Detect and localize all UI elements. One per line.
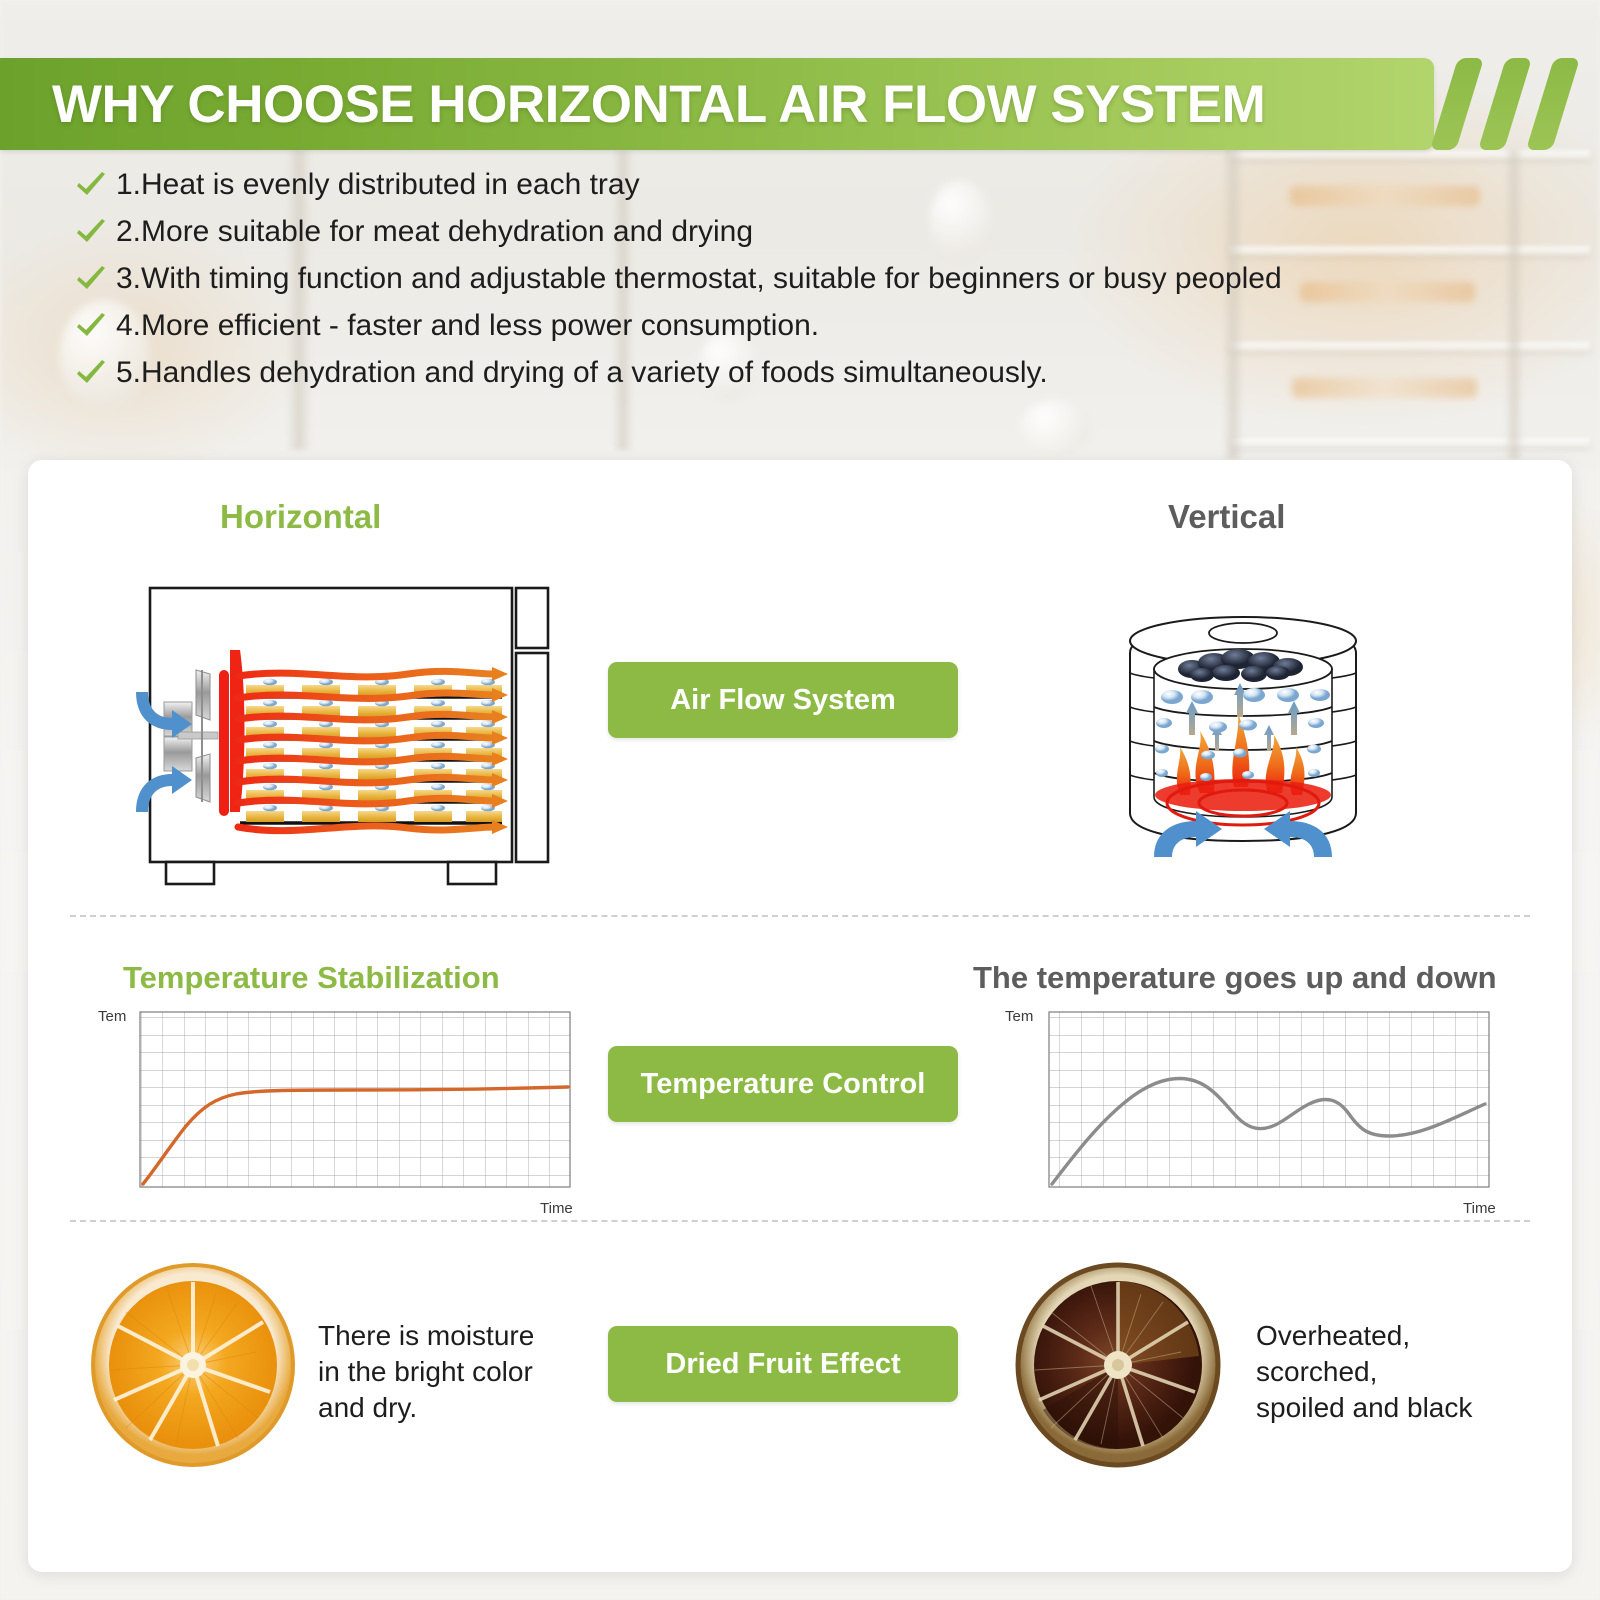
chart-right-xlabel: Time (1463, 1200, 1496, 1217)
horizontal-dehydrator-icon (118, 552, 598, 907)
badge-temperature-control[interactable]: Temperature Control (608, 1046, 958, 1122)
list-item-label: 5.Handles dehydration and drying of a va… (116, 354, 1048, 392)
check-icon (74, 309, 108, 343)
list-item: 4.More efficient - faster and less power… (74, 307, 1494, 345)
list-item: 5.Handles dehydration and drying of a va… (74, 354, 1494, 392)
chart-left-xlabel: Time (540, 1200, 573, 1217)
chart-right-ylabel: Tem (1005, 1008, 1033, 1025)
caption-burnt-fruit: Overheated, scorched, spoiled and black (1256, 1318, 1472, 1426)
section-title-temperature-up-down: The temperature goes up and down (973, 960, 1497, 996)
section-divider-2 (70, 1220, 1530, 1222)
feature-list: 1.Heat is evenly distributed in each tra… (74, 166, 1494, 401)
list-item-label: 2.More suitable for meat dehydration and… (116, 213, 753, 251)
check-icon (74, 356, 108, 390)
list-item-label: 1.Heat is evenly distributed in each tra… (116, 166, 640, 204)
dried-orange-slice-burnt-icon (1013, 1260, 1223, 1475)
section-title-temperature-stabilization: Temperature Stabilization (123, 960, 500, 996)
chart-temperature-stabilization: Tem Time (98, 1000, 598, 1205)
section-divider-1 (70, 915, 1530, 917)
list-item: 1.Heat is evenly distributed in each tra… (74, 166, 1494, 204)
check-icon (74, 168, 108, 202)
section-title-horizontal: Horizontal (220, 498, 381, 536)
check-icon (74, 262, 108, 296)
comparison-card: Horizontal Vertical (28, 460, 1572, 1572)
chart-left-ylabel: Tem (98, 1008, 126, 1025)
caption-bright-fruit: There is moisture in the bright color an… (318, 1318, 534, 1426)
dried-orange-slice-bright-icon (88, 1260, 298, 1475)
chart-temperature-up-down: Tem Time (993, 1000, 1513, 1205)
page-title: WHY CHOOSE HORIZONTAL AIR FLOW SYSTEM (0, 74, 1265, 135)
badge-dried-fruit-effect[interactable]: Dried Fruit Effect (608, 1326, 958, 1402)
page-header-banner: WHY CHOOSE HORIZONTAL AIR FLOW SYSTEM (0, 58, 1434, 150)
list-item-label: 4.More efficient - faster and less power… (116, 307, 819, 345)
badge-air-flow-system[interactable]: Air Flow System (608, 662, 958, 738)
list-item: 2.More suitable for meat dehydration and… (74, 213, 1494, 251)
list-item-label: 3.With timing function and adjustable th… (116, 260, 1282, 298)
section-title-vertical: Vertical (1168, 498, 1285, 536)
vertical-dehydrator-icon (1088, 545, 1398, 870)
check-icon (74, 215, 108, 249)
list-item: 3.With timing function and adjustable th… (74, 260, 1494, 298)
